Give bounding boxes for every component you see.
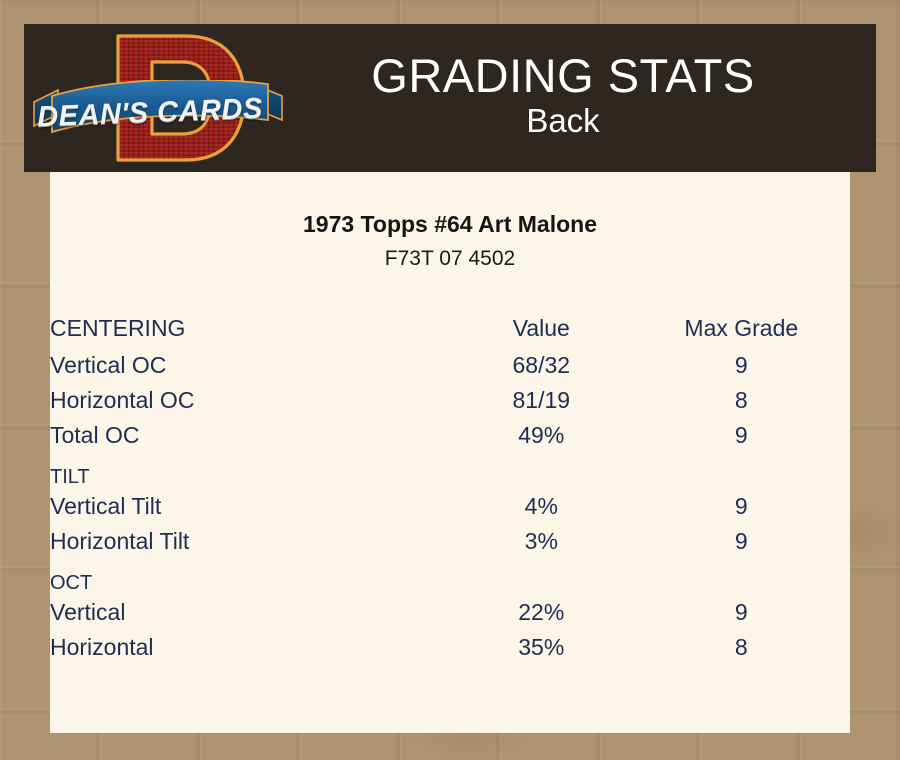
stat-max-grade: 8 [633, 383, 850, 418]
stat-label: Vertical OC [50, 348, 450, 383]
stat-value: 68/32 [450, 348, 633, 383]
table-row: Vertical22%9 [50, 595, 850, 630]
header-bar: DEAN'S CARDS GRADING STATS Back [24, 24, 876, 172]
stat-label: Horizontal [50, 630, 450, 665]
stat-label: Total OC [50, 418, 450, 453]
page-subtitle: Back [292, 101, 834, 141]
grading-stats-table: CENTERING Value Max Grade Vertical OC68/… [50, 308, 850, 665]
table-row: Total OC49%9 [50, 418, 850, 453]
stat-value: 3% [450, 524, 633, 559]
card-title: 1973 Topps #64 Art Malone [50, 210, 850, 240]
stat-value: 35% [450, 630, 633, 665]
stat-max-grade: 9 [633, 524, 850, 559]
section-header-row: TILT [50, 453, 850, 489]
table-row: Horizontal Tilt3%9 [50, 524, 850, 559]
card-code: F73T 07 4502 [50, 245, 850, 272]
column-header-value: Value [450, 308, 633, 348]
stat-label: Horizontal Tilt [50, 524, 450, 559]
table-header-row: CENTERING Value Max Grade [50, 308, 850, 348]
column-header-centering: CENTERING [50, 308, 450, 348]
stat-max-grade: 9 [633, 489, 850, 524]
column-header-max-grade: Max Grade [633, 308, 850, 348]
stat-value: 22% [450, 595, 633, 630]
stat-value: 81/19 [450, 383, 633, 418]
section-header-oct: OCT [50, 559, 850, 595]
logo-ribbon-icon [32, 80, 284, 146]
table-row: Horizontal OC81/198 [50, 383, 850, 418]
stat-max-grade: 9 [633, 595, 850, 630]
stat-max-grade: 8 [633, 630, 850, 665]
stat-value: 49% [450, 418, 633, 453]
stat-label: Horizontal OC [50, 383, 450, 418]
table-row: Horizontal35%8 [50, 630, 850, 665]
table-row: Vertical OC68/329 [50, 348, 850, 383]
section-header-row: OCT [50, 559, 850, 595]
stat-label: Vertical [50, 595, 450, 630]
deans-cards-logo[interactable]: DEAN'S CARDS [24, 24, 292, 172]
stat-max-grade: 9 [633, 418, 850, 453]
stat-value: 4% [450, 489, 633, 524]
page-title: GRADING STATS [292, 51, 834, 101]
header-titles: GRADING STATS Back [292, 51, 876, 145]
stat-max-grade: 9 [633, 348, 850, 383]
section-header-tilt: TILT [50, 453, 850, 489]
table-body: Vertical OC68/329Horizontal OC81/198Tota… [50, 348, 850, 665]
table-row: Vertical Tilt4%9 [50, 489, 850, 524]
content-panel: 1973 Topps #64 Art Malone F73T 07 4502 C… [50, 172, 850, 733]
stat-label: Vertical Tilt [50, 489, 450, 524]
